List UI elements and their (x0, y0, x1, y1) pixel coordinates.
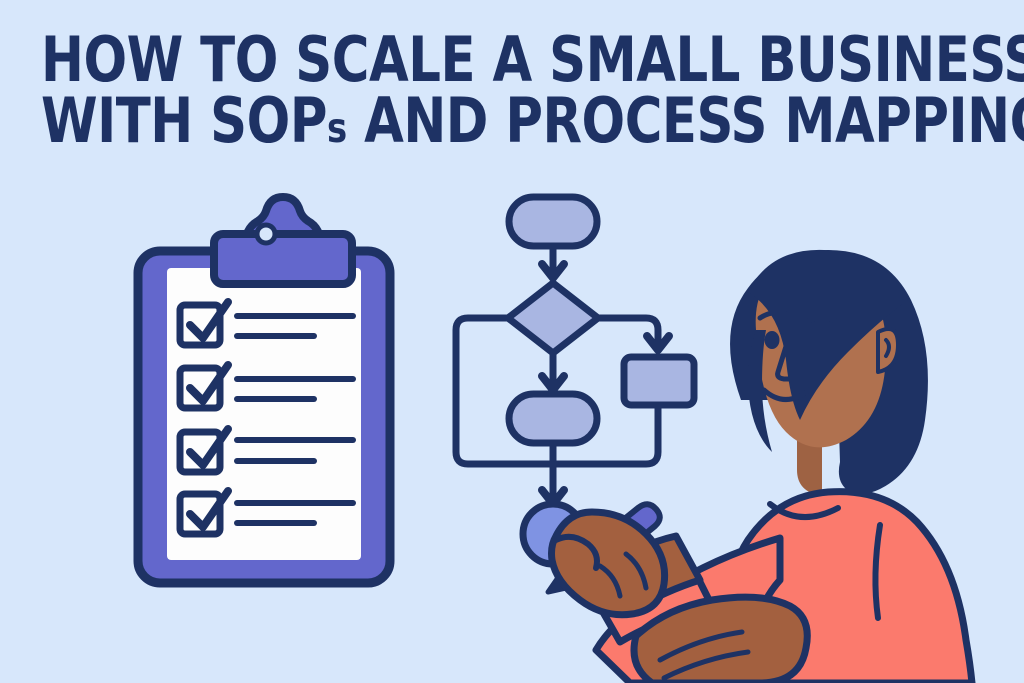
flow-node-start[interactable] (509, 197, 597, 246)
poster-canvas: HOW TO SCALE A SMALL BUSINESS WITH SOPs … (0, 0, 1024, 683)
eye-right (809, 339, 824, 357)
illustration-artboard (0, 0, 1024, 683)
flow-node-process-bottom[interactable] (509, 394, 597, 443)
clipboard-illustration (138, 197, 390, 583)
flow-node-decision[interactable] (508, 283, 598, 353)
clipboard-clip-body (214, 234, 352, 284)
flow-node-process-right[interactable] (624, 357, 694, 405)
eye-left (765, 331, 780, 349)
clipboard-clip-hole (257, 225, 275, 243)
